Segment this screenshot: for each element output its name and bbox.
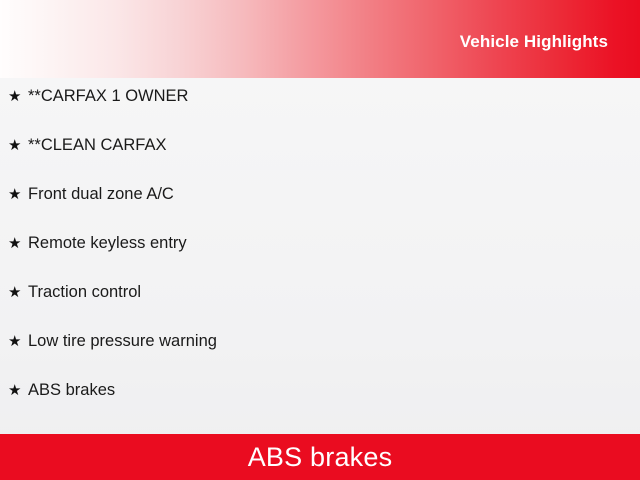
list-item: ★ Low tire pressure warning [0, 331, 640, 380]
vehicle-highlights-page: Vehicle Highlights ★ **CARFAX 1 OWNER ★ … [0, 0, 640, 480]
footer-caption: ABS brakes [248, 441, 393, 473]
header-banner: Vehicle Highlights [0, 0, 640, 78]
star-icon: ★ [8, 87, 28, 107]
list-item: ★ Remote keyless entry [0, 233, 640, 282]
list-item: ★ **CLEAN CARFAX [0, 135, 640, 184]
star-icon: ★ [8, 332, 28, 352]
star-icon: ★ [8, 381, 28, 401]
list-item-label: Low tire pressure warning [28, 331, 217, 351]
list-item-label: ABS brakes [28, 380, 115, 400]
list-item: ★ Front dual zone A/C [0, 184, 640, 233]
list-item-label: Remote keyless entry [28, 233, 187, 253]
list-item-label: Front dual zone A/C [28, 184, 174, 204]
list-item-label: Traction control [28, 282, 141, 302]
star-icon: ★ [8, 234, 28, 254]
list-item-label: **CARFAX 1 OWNER [28, 86, 188, 106]
star-icon: ★ [8, 185, 28, 205]
vehicle-highlights-list: ★ **CARFAX 1 OWNER ★ **CLEAN CARFAX ★ Fr… [0, 86, 640, 429]
star-icon: ★ [8, 136, 28, 156]
star-icon: ★ [8, 283, 28, 303]
list-item: ★ ABS brakes [0, 380, 640, 429]
list-item: ★ **CARFAX 1 OWNER [0, 86, 640, 135]
footer-banner: ABS brakes [0, 434, 640, 480]
list-item: ★ Traction control [0, 282, 640, 331]
list-item-label: **CLEAN CARFAX [28, 135, 166, 155]
page-title: Vehicle Highlights [460, 31, 608, 52]
